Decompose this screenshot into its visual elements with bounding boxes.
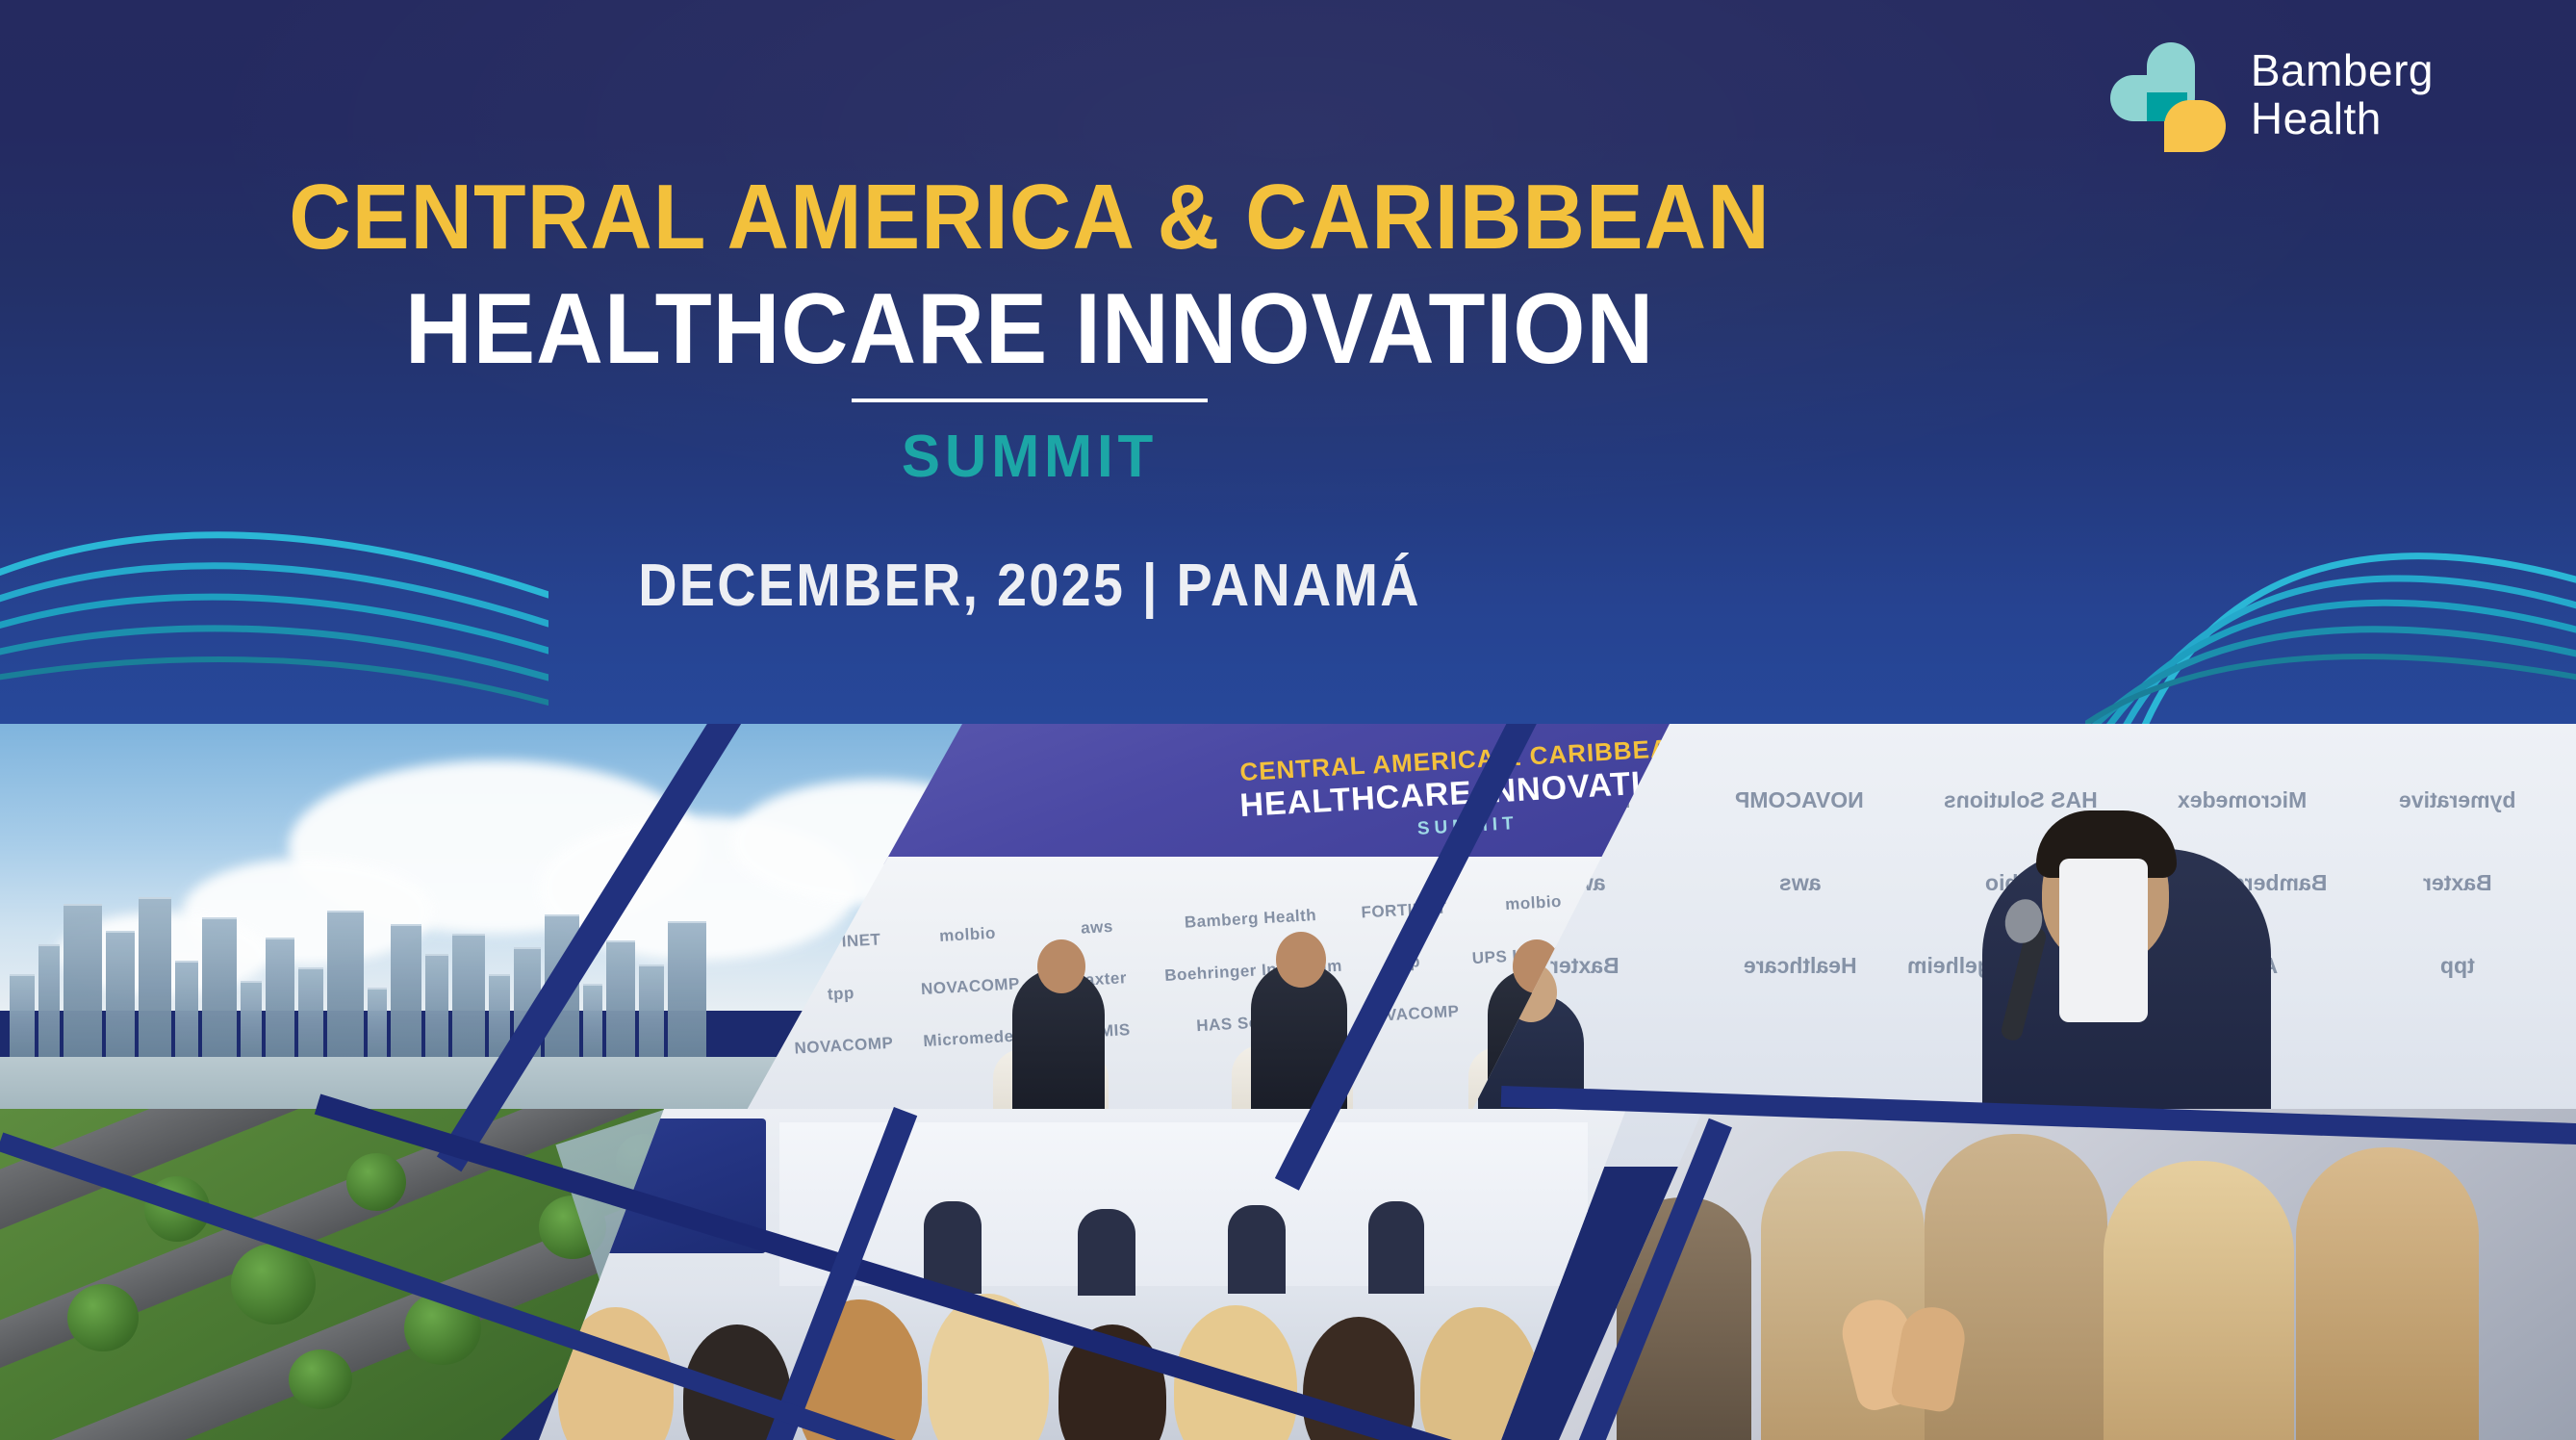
sponsor-logo: NOVACOMP	[1735, 787, 1864, 813]
sponsor-logo: Bamberg Health	[1184, 906, 1316, 933]
sponsor-logo: Healthcare	[1744, 953, 1857, 979]
event-date-location: DECEMBER, 2025 | PANAMÁ	[103, 556, 1956, 616]
event-main-title: HEALTHCARE INNOVATION	[72, 279, 1987, 379]
bamberg-cross-heart-icon	[2106, 37, 2230, 154]
event-summit-line: SUMMIT	[31, 427, 2028, 487]
logo-name-line2: Health	[2251, 95, 2434, 143]
sponsor-logo: bymerative	[2399, 787, 2515, 813]
sponsor-logo: aws	[1081, 917, 1114, 939]
sponsor-logo: molbio	[939, 924, 997, 946]
decorative-arcs-right-icon	[2085, 479, 2576, 724]
title-divider-rule	[852, 399, 1208, 402]
sponsor-logo: molbio	[1505, 892, 1563, 914]
sponsor-logo: tpp	[2440, 953, 2475, 979]
sponsor-logo: HAS Solutions	[1944, 787, 2098, 813]
sponsor-logo: aws	[1779, 870, 1821, 896]
sponsor-logo: Baxter	[1550, 953, 1620, 979]
sponsor-logo: NOVACOMP	[1360, 1002, 1460, 1027]
banner-header: CENTRAL AMERICA & CARIBBEAN HEALTHCARE I…	[0, 0, 2576, 724]
sponsor-logo: tpp	[827, 984, 854, 1005]
sponsor-logo: NOVACOMP	[794, 1034, 894, 1059]
sponsor-logo: Micromedex	[923, 1026, 1024, 1051]
photo-collage: CENTRAL AMERICA & CARIBBEAN HEALTHCARE I…	[0, 724, 2576, 1440]
photo-audience	[539, 1109, 1626, 1440]
logo-wordmark: Bamberg Health	[2251, 47, 2434, 142]
sponsor-logo: tpp	[1393, 952, 1421, 973]
logo-name-line1: Bamberg	[2251, 47, 2434, 95]
sponsor-logo: Baxter	[2423, 870, 2492, 896]
sponsor-logo: Micromedex	[2178, 787, 2307, 813]
photo-networking	[1559, 1109, 2576, 1440]
bamberg-health-logo: Bamberg Health	[2106, 37, 2434, 154]
title-block: CENTRAL AMERICA & CARIBBEAN HEALTHCARE I…	[0, 171, 2059, 616]
event-region-line: CENTRAL AMERICA & CARIBBEAN	[72, 171, 1987, 264]
sponsor-logo: FORTINET	[1361, 899, 1447, 923]
event-banner: CENTRAL AMERICA & CARIBBEAN HEALTHCARE I…	[0, 0, 2576, 1440]
sponsor-logo: NOVACOMP	[921, 974, 1021, 999]
